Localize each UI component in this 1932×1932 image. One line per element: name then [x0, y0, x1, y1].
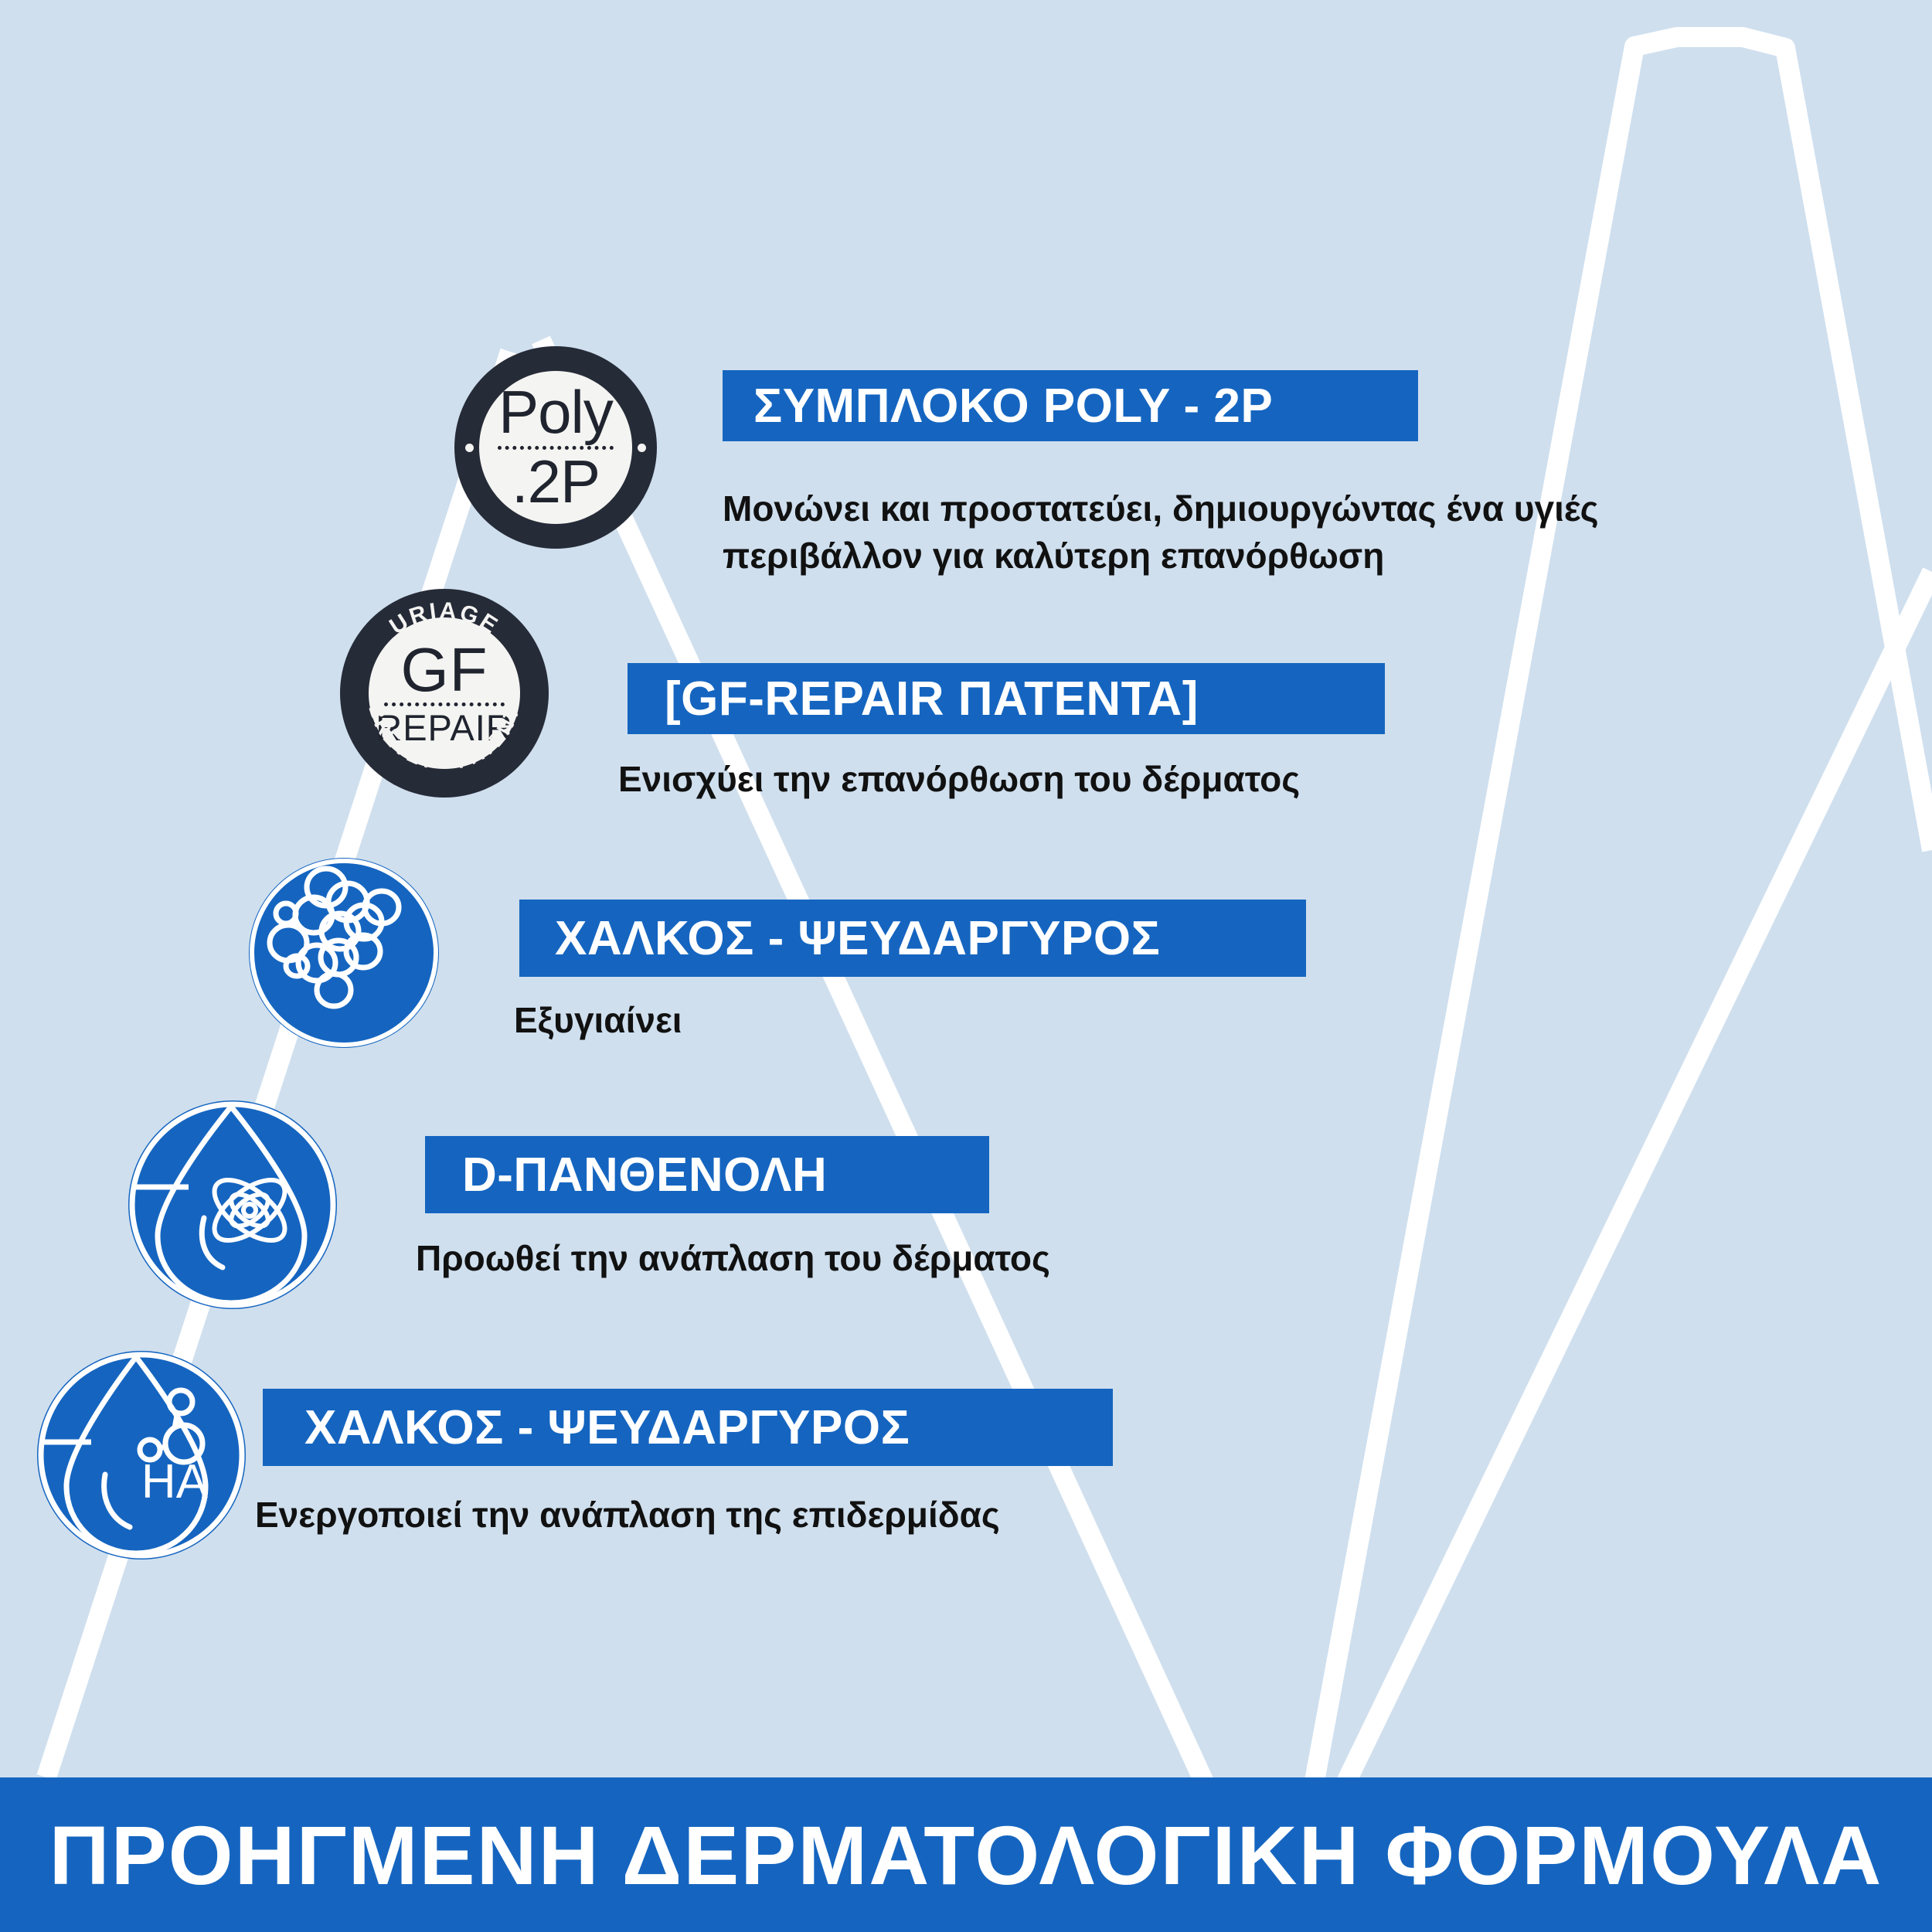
svg-text:BREVET • PATENT: BREVET • PATENT — [364, 702, 524, 774]
section-title-d-panthenol: D-ΠΑΝΘΕΝΟΛΗ — [462, 1148, 827, 1202]
section-title-copper-zinc-2: ΧΑΛΚΟΣ - ΨΕΥΔΑΡΓΥΡΟΣ — [304, 1400, 910, 1455]
gf-repair-badge: GF REPAIR URIAGE BREVET • PATENT — [340, 589, 549, 798]
badge-screw-right-icon — [638, 444, 646, 452]
section-title-bar-copper-zinc-1: ΧΑΛΚΟΣ - ΨΕΥΔΑΡΓΥΡΟΣ — [519, 900, 1306, 977]
poly-2p-bottom-text: .2P — [512, 451, 600, 512]
section-description-poly-2p: Μονώνει και προστατεύει, δημιουργώντας έ… — [723, 485, 1804, 579]
section-description-d-panthenol: Προωθεί την ανάπλαση του δέρματος — [416, 1235, 1420, 1282]
section-description-copper-zinc-1: Εξυγιαίνει — [514, 997, 1441, 1044]
section-title-poly-2p: ΣΥΜΠΛΟΚΟ POLY - 2P — [753, 379, 1273, 434]
badge-screw-left-icon — [465, 444, 474, 452]
section-description-gf-repair: Ενισχύει την επανόρθωση του δέρματος — [618, 756, 1700, 803]
droplet-atom-icon — [128, 1100, 337, 1309]
infographic-canvas: Poly .2P ΣΥΜΠΛΟΚΟ POLY - 2P Μονώνει και … — [0, 0, 1932, 1932]
droplet-ha-icon: HA — [37, 1351, 246, 1560]
svg-text:URIAGE: URIAGE — [385, 598, 503, 640]
section-description-line1-gf-repair: Ενισχύει την επανόρθωση του δέρματος — [618, 756, 1700, 803]
gf-repair-arc-text: URIAGE BREVET • PATENT — [340, 589, 549, 798]
poly-2p-badge: Poly .2P — [454, 346, 657, 549]
section-description-line1-copper-zinc-1: Εξυγιαίνει — [514, 997, 1441, 1044]
section-title-copper-zinc-1: ΧΑΛΚΟΣ - ΨΕΥΔΑΡΓΥΡΟΣ — [555, 911, 1160, 966]
section-title-bar-gf-repair: [GF-REPAIR ΠΑΤΕΝΤΑ] — [628, 663, 1385, 734]
section-title-bar-poly-2p: ΣΥΜΠΛΟΚΟ POLY - 2P — [723, 370, 1418, 441]
cell-cluster-glyph — [249, 858, 439, 1048]
section-description-line2-poly-2p: περιβάλλον για καλύτερη επανόρθωση — [723, 532, 1804, 580]
section-description-copper-zinc-2: Ενεργοποιεί την ανάπλαση της επιδερμίδας — [255, 1492, 1414, 1539]
droplet-ha-glyph: HA — [37, 1351, 246, 1560]
section-description-line1-copper-zinc-2: Ενεργοποιεί την ανάπλαση της επιδερμίδας — [255, 1492, 1414, 1539]
section-title-bar-d-panthenol: D-ΠΑΝΘΕΝΟΛΗ — [425, 1136, 989, 1213]
footer-banner: ΠΡΟΗΓΜΕΝΗ ΔΕΡΜΑΤΟΛΟΓΙΚΗ ΦΟΡΜΟΥΛΑ — [0, 1777, 1932, 1932]
poly-2p-top-text: Poly — [498, 383, 613, 440]
droplet-atom-glyph — [128, 1100, 337, 1309]
cell-cluster-icon — [249, 858, 439, 1048]
ha-label: HA — [141, 1455, 209, 1509]
footer-text: ΠΡΟΗΓΜΕΝΗ ΔΕΡΜΑΤΟΛΟΓΙΚΗ ΦΟΡΜΟΥΛΑ — [49, 1807, 1883, 1903]
section-title-gf-repair: [GF-REPAIR ΠΑΤΕΝΤΑ] — [665, 672, 1199, 726]
section-description-line1-poly-2p: Μονώνει και προστατεύει, δημιουργώντας έ… — [723, 485, 1804, 532]
section-description-line1-d-panthenol: Προωθεί την ανάπλαση του δέρματος — [416, 1235, 1420, 1282]
section-title-bar-copper-zinc-2: ΧΑΛΚΟΣ - ΨΕΥΔΑΡΓΥΡΟΣ — [263, 1389, 1113, 1466]
